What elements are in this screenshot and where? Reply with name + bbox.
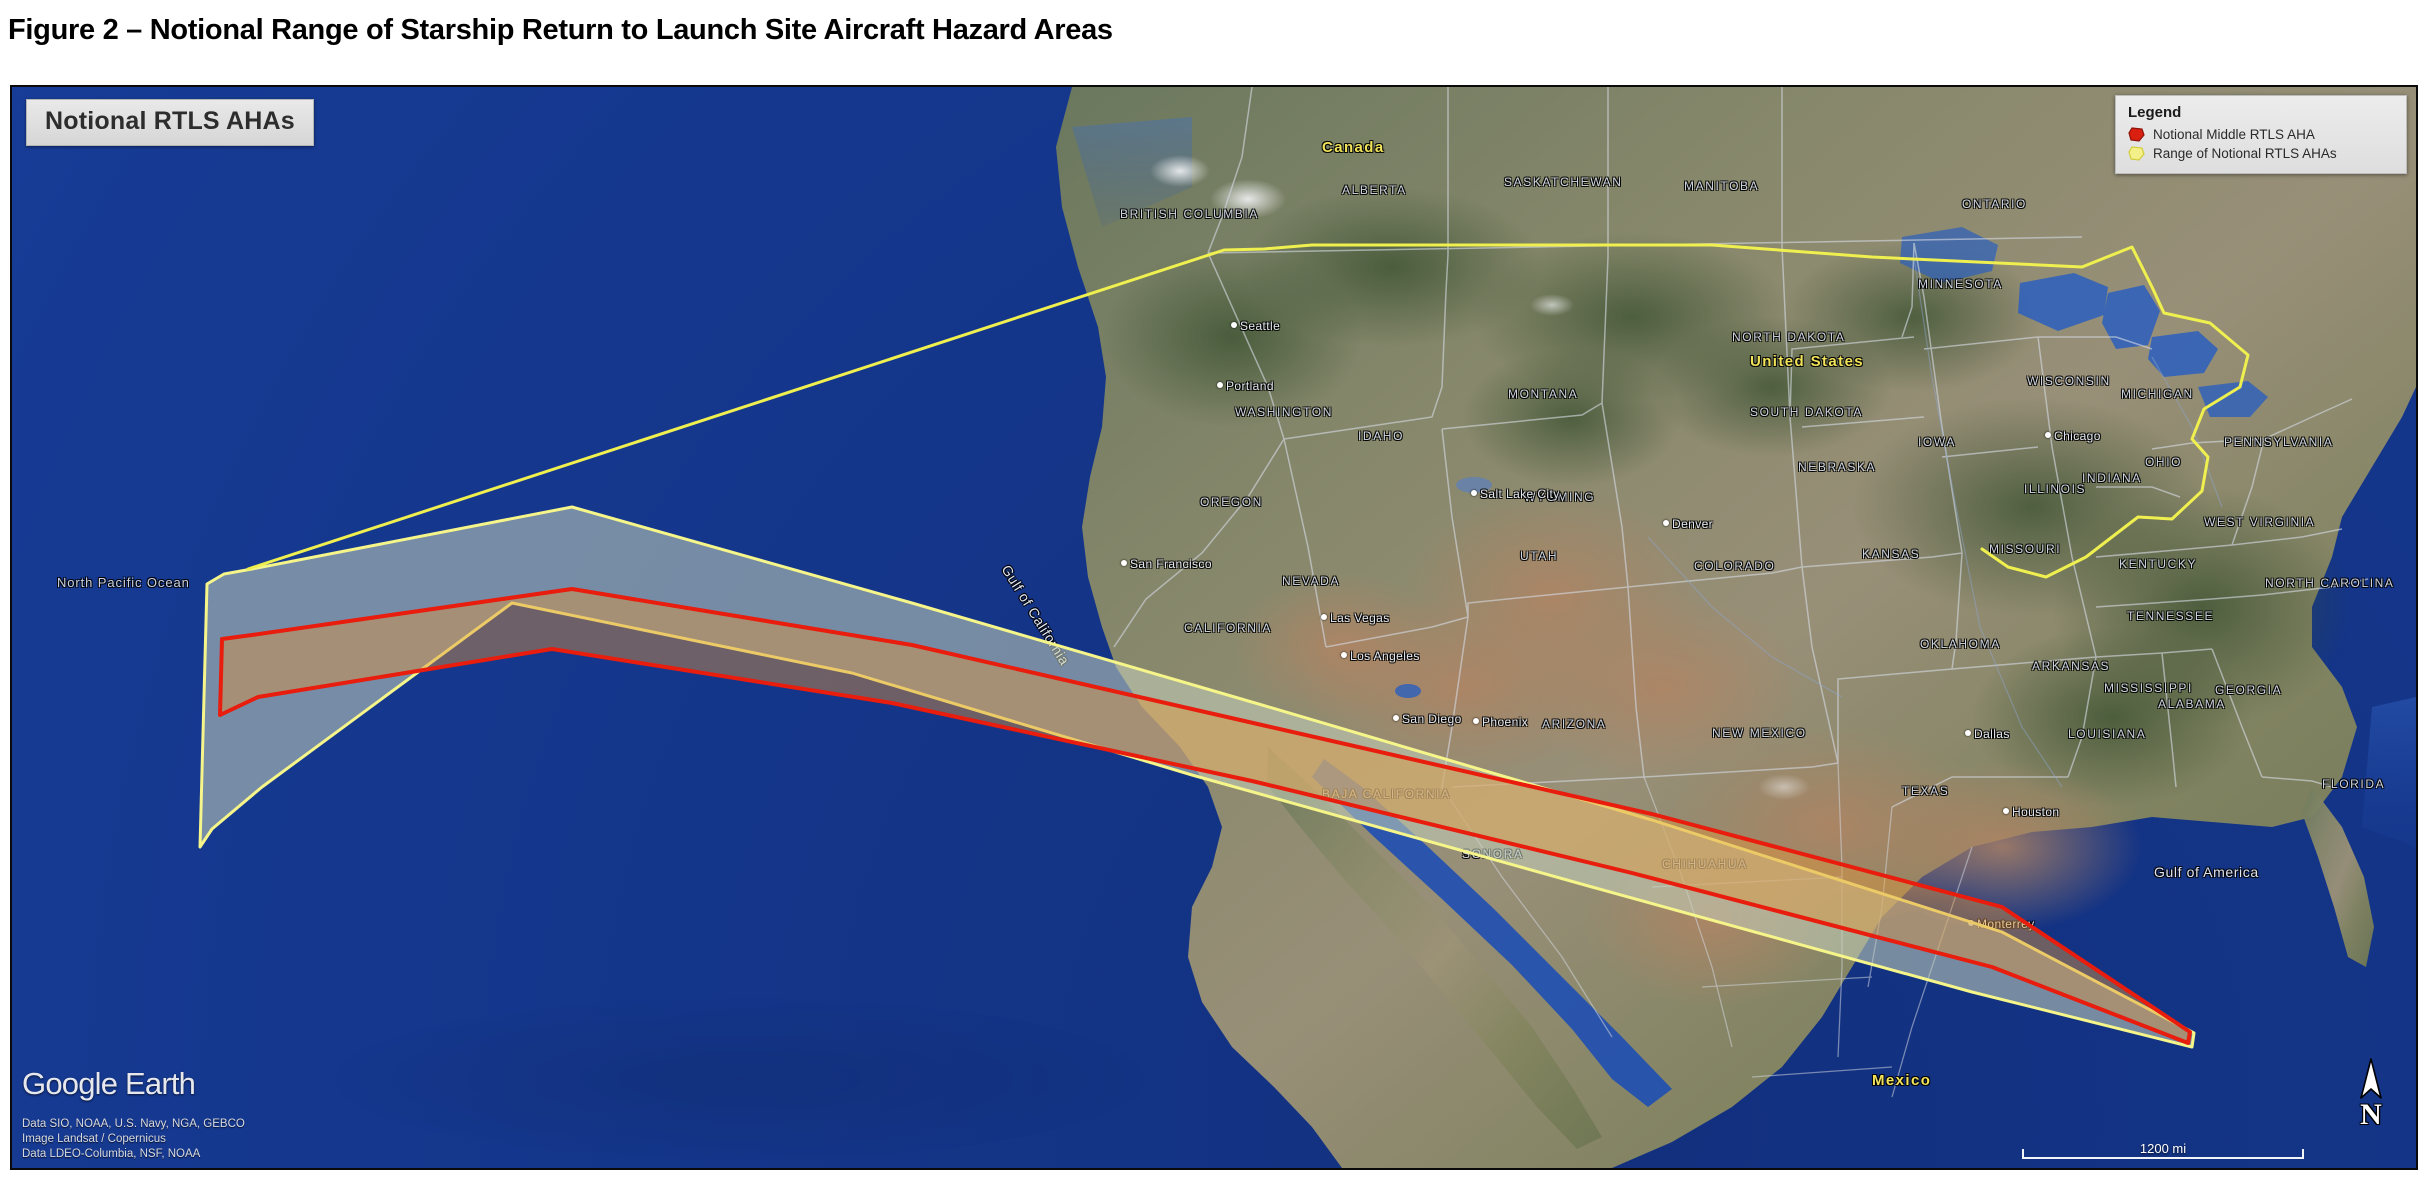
figure-page: Figure 2 – Notional Range of Starship Re… (0, 0, 2428, 1180)
range-rtls-ahas-swatch-icon (2128, 146, 2145, 161)
attribution-line-3: Data LDEO-Columbia, NSF, NOAA (22, 1147, 245, 1162)
north-arrow-label: N (2354, 1100, 2388, 1130)
figure-caption: Figure 2 – Notional Range of Starship Re… (8, 6, 1608, 54)
map-canvas[interactable]: North Pacific OceanGulf of CaliforniaGul… (12, 87, 2416, 1168)
legend-item-range-rtls-ahas[interactable]: Range of Notional RTLS AHAs (2128, 144, 2396, 163)
google-earth-logo: Google Earth (22, 1066, 195, 1102)
legend-title: Legend (2128, 104, 2396, 121)
earth-wordmark: Earth (125, 1066, 195, 1101)
scale-bar: 1200 mi (2022, 1139, 2304, 1159)
legend-panel[interactable]: Legend Notional Middle RTLS AHA (2115, 95, 2407, 174)
north-america-landmass (12, 87, 2416, 1168)
google-wordmark: Google (22, 1066, 117, 1101)
attribution-line-1: Data SIO, NOAA, U.S. Navy, NGA, GEBCO (22, 1117, 245, 1132)
legend-item-middle-rtls-aha[interactable]: Notional Middle RTLS AHA (2128, 125, 2396, 144)
legend-label-middle-rtls-aha: Notional Middle RTLS AHA (2153, 127, 2315, 142)
legend-label-range-rtls-ahas: Range of Notional RTLS AHAs (2153, 146, 2337, 161)
attribution-line-2: Image Landsat / Copernicus (22, 1132, 245, 1147)
north-arrow: N (2354, 1058, 2388, 1130)
middle-rtls-aha-swatch-icon (2128, 127, 2145, 142)
map-frame[interactable]: North Pacific OceanGulf of CaliforniaGul… (10, 85, 2418, 1170)
map-attribution: Data SIO, NOAA, U.S. Navy, NGA, GEBCO Im… (22, 1117, 245, 1162)
map-title-box[interactable]: Notional RTLS AHAs (26, 99, 314, 146)
scale-bar-label: 1200 mi (2022, 1141, 2304, 1156)
